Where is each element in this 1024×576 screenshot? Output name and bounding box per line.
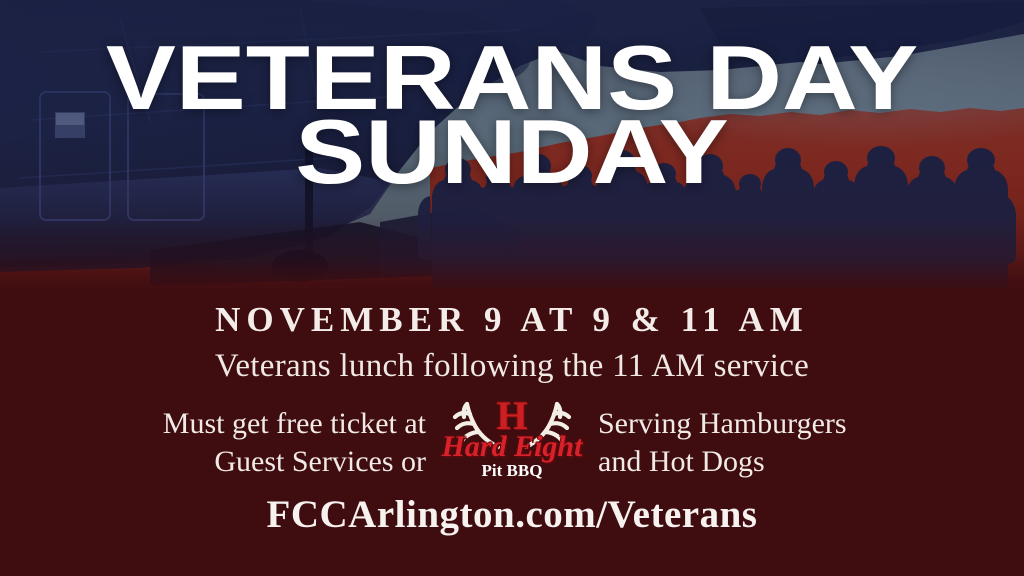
poster-title: VETERANS DAY SUNDAY [0,40,1024,186]
ticket-instructions: Must get free ticket at Guest Services o… [90,405,438,482]
title-line-sunday: SUNDAY [0,114,1024,191]
logo-brand-name: Hard Eight [442,432,583,462]
hard-eight-pit-bbq-logo: H Hard Eight Pit BBQ [438,396,586,488]
service-date-time: NOVEMBER 9 AT 9 & 11 AM [0,300,1024,340]
details-row: Must get free ticket at Guest Services o… [0,405,1024,488]
logo-tagline: Pit BBQ [482,462,543,479]
menu-details: Serving Hamburgers and Hot Dogs [586,405,934,482]
ticket-instructions-line1: Must get free ticket at [90,405,426,443]
lunch-detail: Veterans lunch following the 11 AM servi… [0,348,1024,385]
menu-line2: and Hot Dogs [598,443,934,481]
website-url[interactable]: FCCArlington.com/Veterans [0,492,1024,537]
menu-line1: Serving Hamburgers [598,405,934,443]
veterans-day-promo-poster: VETERANS DAY SUNDAY NOVEMBER 9 AT 9 & 11… [0,0,1024,576]
ticket-instructions-line2: Guest Services or [90,443,426,481]
